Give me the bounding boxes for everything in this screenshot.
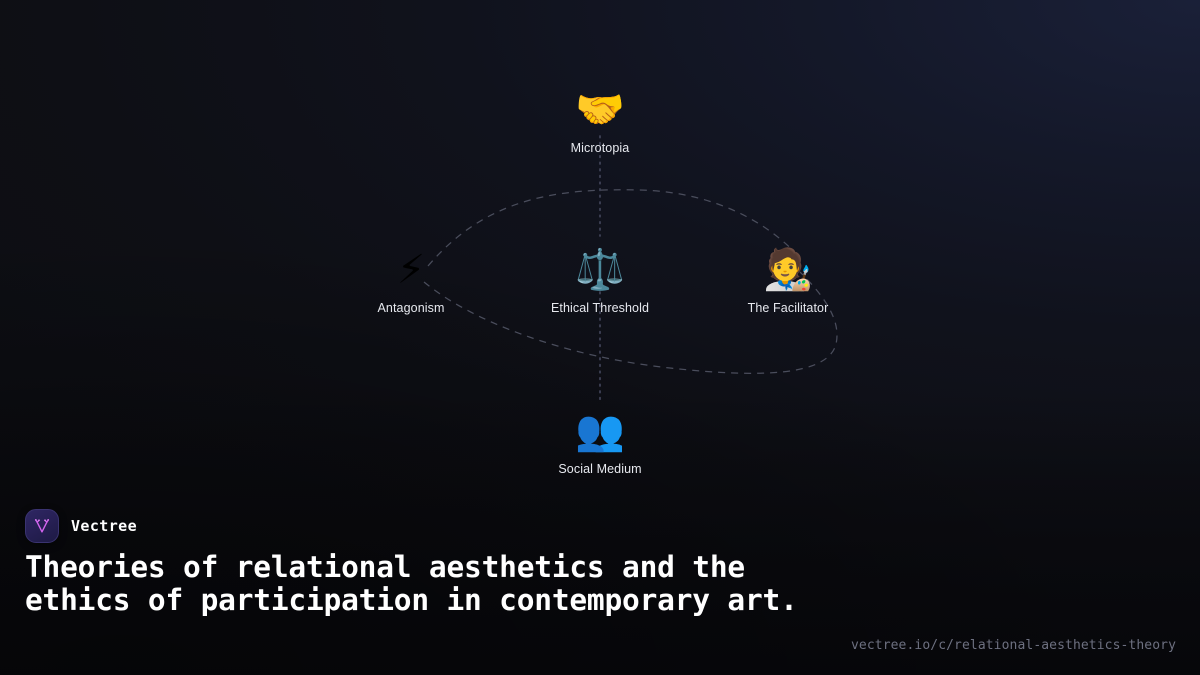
graph-node-label: Ethical Threshold [510, 301, 690, 316]
graph-node-microtopia[interactable]: 🤝 Microtopia [510, 84, 690, 156]
brand-name: Vectree [71, 517, 137, 535]
high-voltage-icon: ⚡ [321, 244, 501, 296]
graph-node-label: The Facilitator [698, 301, 878, 316]
balance-scale-icon: ⚖️ [510, 244, 690, 296]
source-url: vectree.io/c/relational-aesthetics-theor… [851, 638, 1176, 653]
page-title: Theories of relational aesthetics and th… [25, 551, 855, 616]
graph-node-label: Social Medium [510, 462, 690, 477]
vectree-tree-logo-icon [25, 509, 59, 543]
caption-footer: Vectree Theories of relational aesthetic… [0, 485, 1200, 675]
graph-node-label: Antagonism [321, 301, 501, 316]
graph-node-antagonism[interactable]: ⚡ Antagonism [321, 244, 501, 316]
graph-node-ethical-threshold[interactable]: ⚖️ Ethical Threshold [510, 244, 690, 316]
handshake-icon: 🤝 [510, 84, 690, 136]
artist-icon: 🧑‍🎨 [698, 244, 878, 296]
graph-node-social-medium[interactable]: 👥 Social Medium [510, 405, 690, 477]
graph-node-label: Microtopia [510, 141, 690, 156]
brand-row[interactable]: Vectree [25, 509, 137, 543]
busts-in-silhouette-icon: 👥 [510, 405, 690, 457]
graph-node-the-facilitator[interactable]: 🧑‍🎨 The Facilitator [698, 244, 878, 316]
concept-graph[interactable]: 🤝 Microtopia ⚡ Antagonism ⚖️ Ethical Thr… [0, 0, 1200, 500]
